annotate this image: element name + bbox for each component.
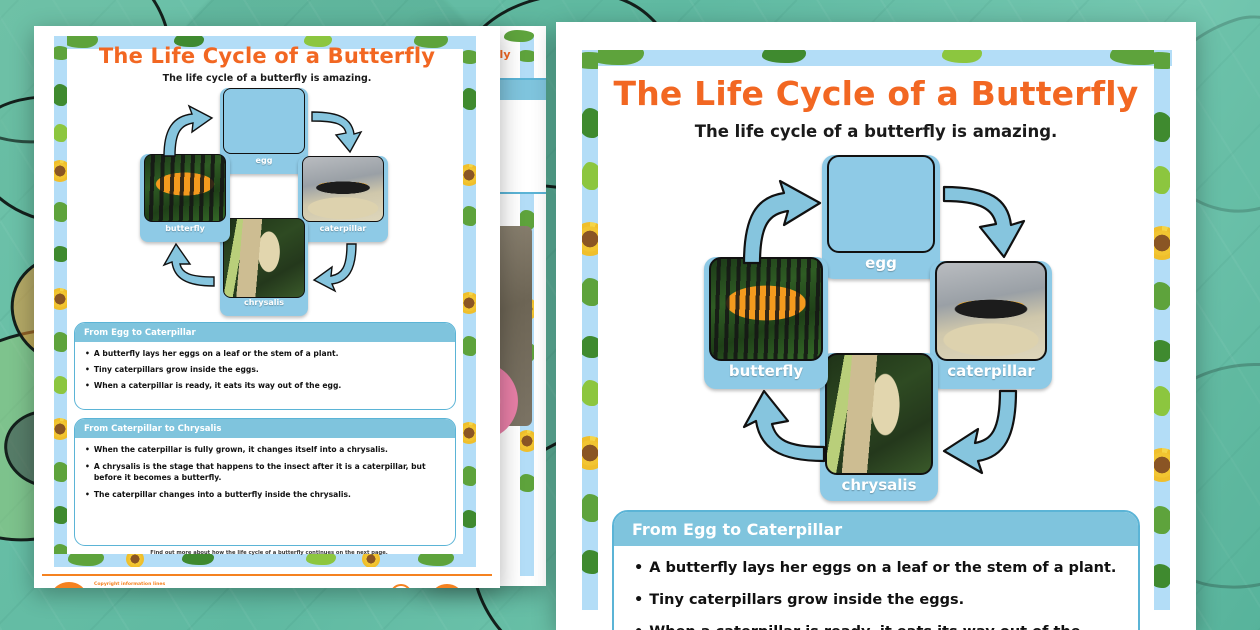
thumbnail-stage-caterpillar[interactable]: caterpillar (298, 156, 388, 242)
smiley-face-icon (390, 584, 412, 588)
thumbnail-panel-egg-to-caterpillar: From Egg to Caterpillar •A butterfly lay… (74, 322, 456, 410)
thumbnail-stage-egg[interactable]: egg (220, 88, 308, 174)
thumbnail-panel-heading: From Egg to Caterpillar (75, 323, 455, 342)
thumbnail-bullet: •A chrysalis is the stage that happens t… (85, 462, 445, 483)
decorative-border-strip-right (1154, 50, 1170, 610)
egg-photo (223, 88, 305, 154)
stage-butterfly[interactable]: butterfly (704, 257, 828, 389)
arrow-egg-to-caterpillar (938, 177, 1030, 269)
stage-label-caterpillar: caterpillar (930, 362, 1052, 380)
decorative-border-strip-top (582, 50, 1172, 66)
thumbnail-stage-label-butterfly: butterfly (140, 224, 230, 233)
footer-divider (42, 574, 492, 576)
thumbnail-bullet: •A butterfly lays her eggs on a leaf or … (85, 349, 445, 358)
panel-bullet: •When a caterpillar is ready, it eats it… (634, 624, 1118, 630)
panel-egg-to-caterpillar: From Egg to Caterpillar •A butterfly lay… (612, 510, 1140, 630)
page-subtitle: The life cycle of a butterfly is amazing… (596, 122, 1156, 141)
thumbnail-panel-caterpillar-to-chrysalis: From Caterpillar to Chrysalis •When the … (74, 418, 456, 546)
twinkl-logo-icon (52, 582, 86, 588)
thumbnail-stage-label-egg: egg (220, 156, 308, 165)
thumbnail-bullet: •The caterpillar changes into a butterfl… (85, 490, 445, 500)
stage-caterpillar[interactable]: caterpillar (930, 261, 1052, 389)
thumbnail-bullet: •When the caterpillar is fully grown, it… (85, 445, 445, 455)
thumbnail-stage-chrysalis[interactable]: chrysalis (220, 218, 308, 316)
butterfly-photo (709, 257, 823, 361)
caterpillar-photo (935, 261, 1047, 361)
arrow-chrysalis-to-butterfly (738, 385, 830, 477)
thumbnail-trailing-note: Find out more about how the life cycle o… (94, 550, 444, 556)
arrow-caterpillar-to-chrysalis (934, 385, 1026, 477)
twinkl-footer-logo-icon (432, 584, 462, 588)
arrow-caterpillar-to-chrysalis (306, 240, 366, 296)
corner-leaf-icon (504, 30, 534, 42)
footer-copyright: Copyright information lines (94, 582, 214, 588)
arrow-butterfly-to-egg (736, 175, 828, 267)
decorative-border-strip-left (54, 36, 67, 566)
stage-label-egg: egg (822, 254, 940, 272)
stage-label-chrysalis: chrysalis (820, 476, 938, 494)
thumbnail-panel-heading: From Caterpillar to Chrysalis (75, 419, 455, 438)
caterpillar-photo (302, 156, 384, 222)
stage-egg[interactable]: egg (822, 155, 940, 279)
arrow-chrysalis-to-butterfly (158, 240, 218, 296)
stage-label-butterfly: butterfly (704, 362, 828, 380)
thumbnail-bullet: •Tiny caterpillars grow inside the eggs. (85, 365, 445, 374)
thumbnail-stage-label-chrysalis: chrysalis (220, 298, 308, 307)
screenshot-stage: a Butterfly and the it can again! (0, 0, 1260, 630)
life-cycle-diagram: egg caterpillar chrysalis butterfly (702, 155, 1062, 507)
panel-heading-egg-to-caterpillar: From Egg to Caterpillar (614, 512, 1138, 546)
thumbnail-bullet: •When a caterpillar is ready, it eats it… (85, 381, 445, 390)
document-page-1-thumbnail[interactable]: The Life Cycle of a Butterfly The life c… (34, 26, 500, 588)
arrow-egg-to-caterpillar (308, 104, 368, 162)
arrow-butterfly-to-egg (158, 102, 220, 160)
chrysalis-photo (825, 353, 933, 475)
decorative-border-strip-right (463, 36, 476, 566)
thumbnail-subtitle: The life cycle of a butterfly is amazing… (68, 73, 466, 84)
egg-photo (827, 155, 935, 253)
butterfly-photo (144, 154, 226, 222)
panel-bullet: •Tiny caterpillars grow inside the eggs. (634, 592, 1118, 608)
panel-bullet: •A butterfly lays her eggs on a leaf or … (634, 560, 1118, 576)
stage-chrysalis[interactable]: chrysalis (820, 353, 938, 501)
thumbnail-life-cycle-diagram: egg caterpillar chrysalis butterfly (130, 88, 400, 318)
thumbnail-page-title: The Life Cycle of a Butterfly (68, 44, 466, 68)
thumbnail-stage-label-caterpillar: caterpillar (298, 224, 388, 233)
page-title: The Life Cycle of a Butterfly (596, 74, 1156, 113)
document-page-1[interactable]: The Life Cycle of a Butterfly The life c… (556, 22, 1196, 630)
chrysalis-photo (223, 218, 305, 298)
thumbnail-stage-butterfly[interactable]: butterfly (140, 154, 230, 242)
